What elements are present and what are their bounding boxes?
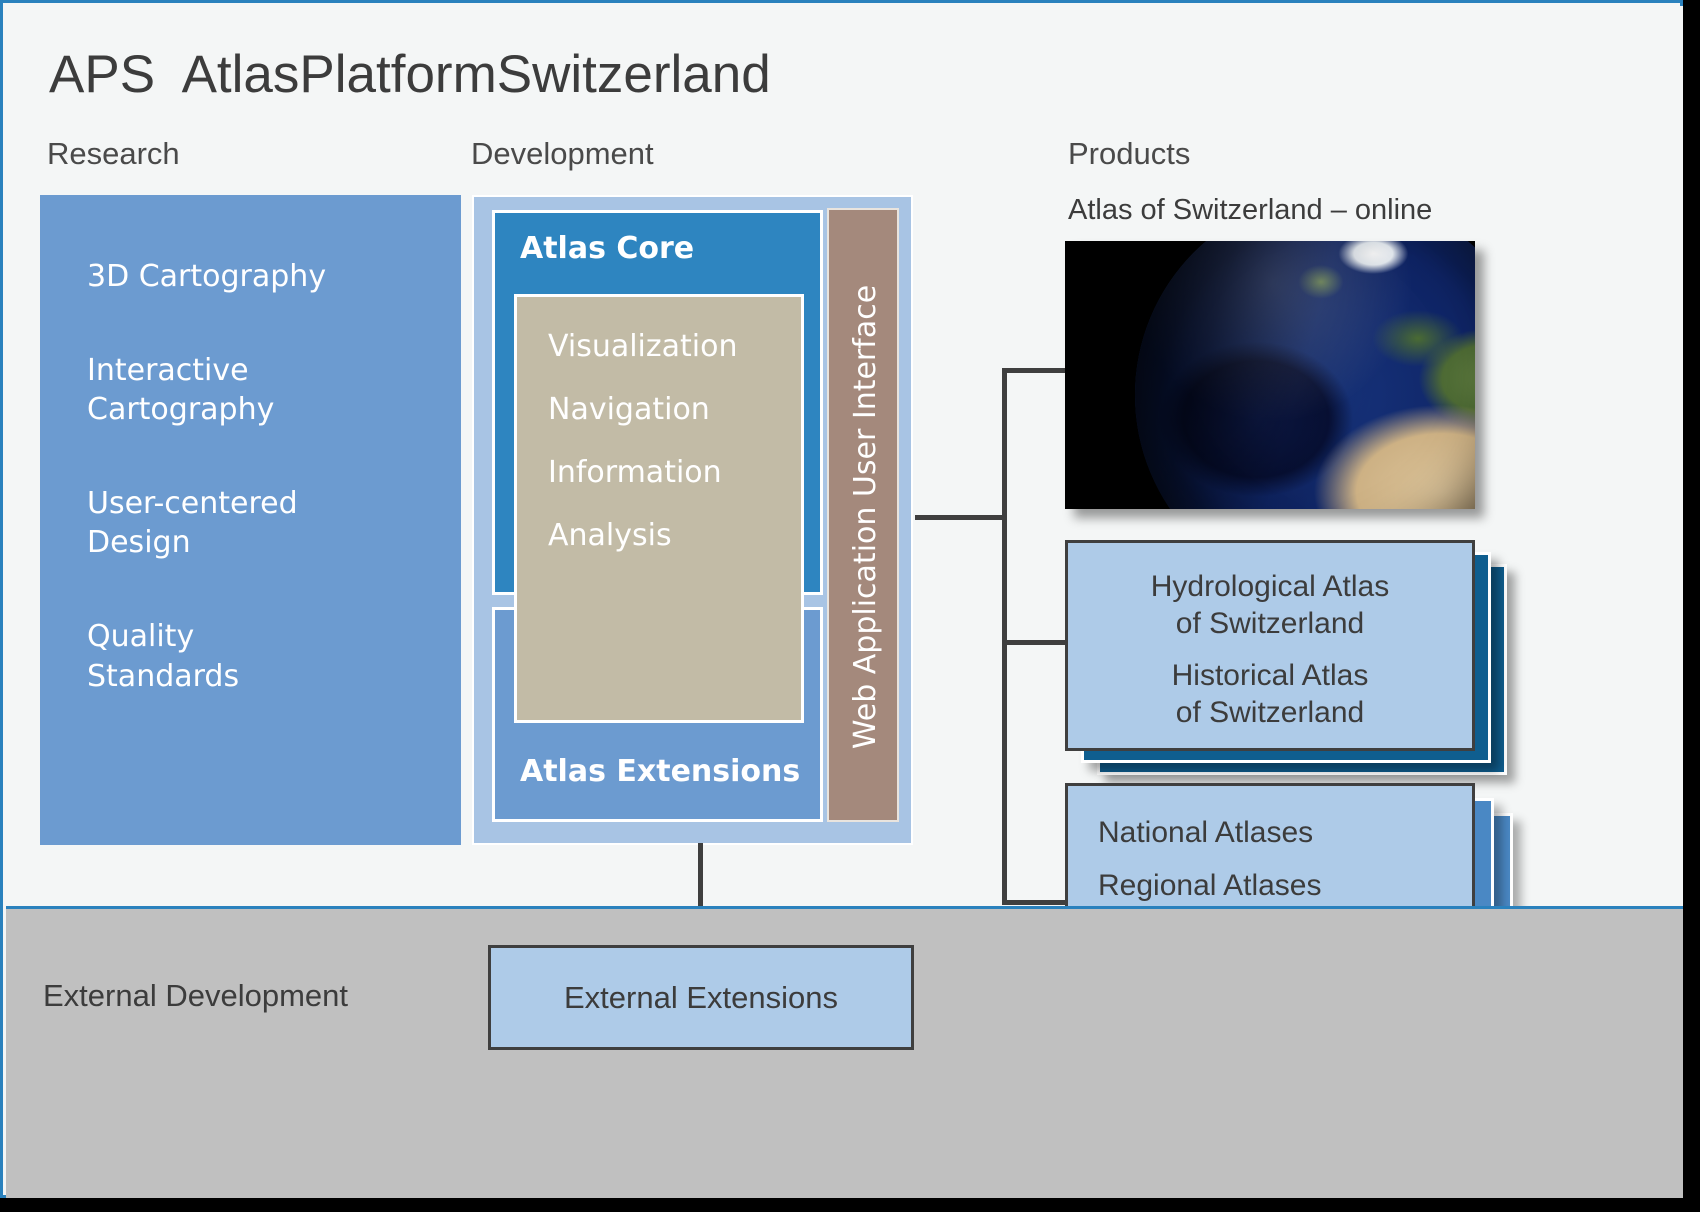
web-application-user-interface-bar: Web Application User Interface: [827, 208, 899, 822]
product-box-text-list: Hydrological Atlas of Switzerland Histor…: [1068, 569, 1472, 747]
product-online-title: Atlas of Switzerland – online: [1068, 194, 1432, 227]
connector-ui-to-trunk: [915, 515, 1007, 520]
research-item-list: 3D Cartography Interactive Cartography U…: [87, 257, 447, 750]
function-item: Information: [548, 458, 738, 488]
column-heading-research: Research: [47, 136, 180, 172]
web-application-user-interface-label: Web Application User Interface: [829, 210, 901, 824]
function-item: Navigation: [548, 395, 738, 425]
product-line: Regional Atlases: [1098, 871, 1321, 901]
connector-branch-globe: [1002, 368, 1068, 373]
research-item: 3D Cartography: [87, 257, 447, 297]
earth-globe-icon: [1135, 241, 1475, 509]
connector-products-trunk: [1002, 368, 1007, 905]
product-line: Historical Atlas of Switzerland: [1068, 658, 1472, 731]
atlas-functions-box: Visualization Navigation Information Ana…: [514, 294, 804, 723]
connector-branch-box1: [1002, 640, 1068, 645]
function-item: Visualization: [548, 332, 738, 362]
column-heading-products: Products: [1068, 136, 1190, 172]
diagram-canvas: APS AtlasPlatformSwitzerland Research De…: [0, 0, 1700, 1212]
product-box-hydrological-historical[interactable]: Hydrological Atlas of Switzerland Histor…: [1065, 540, 1475, 751]
research-item: Interactive Cartography: [87, 351, 447, 430]
external-development-label: External Development: [43, 978, 348, 1014]
product-stack-atlases-ch: Hydrological Atlas of Switzerland Histor…: [1065, 540, 1475, 751]
globe-night-shadow: [1135, 241, 1475, 509]
research-item: User-centered Design: [87, 484, 447, 563]
atlas-function-list: Visualization Navigation Information Ana…: [548, 332, 738, 584]
product-line: Hydrological Atlas of Switzerland: [1068, 569, 1472, 642]
research-panel: 3D Cartography Interactive Cartography U…: [40, 195, 461, 845]
slide-frame: APS AtlasPlatformSwitzerland Research De…: [0, 0, 1683, 1198]
globe-image-frame: [1065, 241, 1475, 509]
product-line: National Atlases: [1098, 818, 1321, 848]
research-item: Quality Standards: [87, 617, 447, 696]
page-title: APS AtlasPlatformSwitzerland: [49, 44, 771, 105]
external-extensions-label: External Extensions: [564, 980, 838, 1016]
column-heading-development: Development: [471, 136, 654, 172]
atlas-core-label: Atlas Core: [520, 231, 694, 266]
function-item: Analysis: [548, 521, 738, 551]
atlas-extensions-label: Atlas Extensions: [520, 754, 800, 789]
connector-branch-box2: [1002, 900, 1068, 905]
external-extensions-box[interactable]: External Extensions: [488, 945, 914, 1050]
